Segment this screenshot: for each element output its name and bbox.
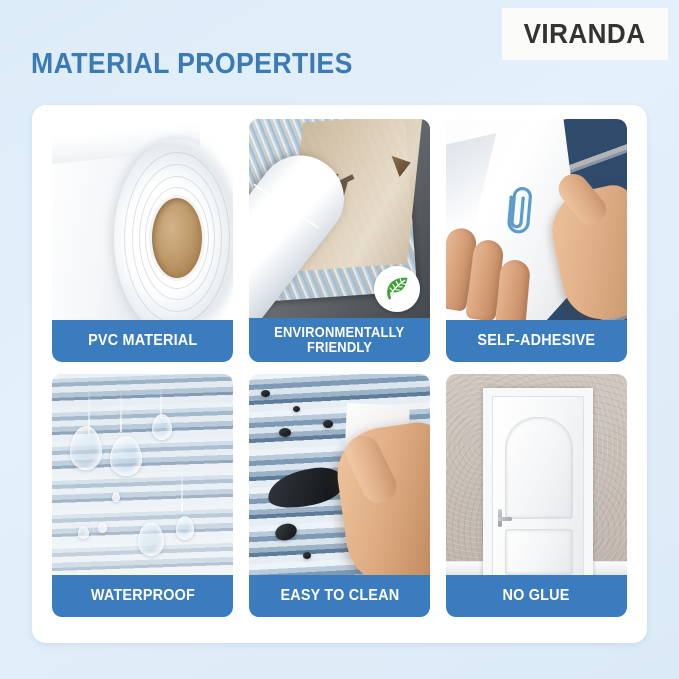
- feature-label-text: ENVIRONMENTALLY FRIENDLY: [270, 325, 410, 356]
- stain-spot: [261, 390, 270, 397]
- features-grid: PVC MATERIAL: [52, 119, 627, 617]
- pvc-roll-core: [152, 198, 202, 278]
- brand-logo-text: VIRANDA: [524, 18, 646, 50]
- stain-spot: [293, 406, 300, 412]
- water-droplet: [98, 522, 107, 533]
- water-droplet: [78, 526, 89, 539]
- feature-label-environmentally-friendly: ENVIRONMENTALLY FRIENDLY: [249, 318, 430, 362]
- feature-label-text: SELF-ADHESIVE: [478, 333, 596, 349]
- feature-tile-self-adhesive[interactable]: SELF-ADHESIVE: [446, 119, 627, 362]
- feature-label-text: WATERPROOF: [90, 588, 194, 604]
- stain-spot: [303, 552, 311, 559]
- feature-label-text: NO GLUE: [503, 588, 570, 604]
- feature-label-text: PVC MATERIAL: [88, 333, 197, 349]
- door-panel-top: [505, 417, 573, 519]
- feature-label-text: EASY TO CLEAN: [280, 588, 399, 604]
- feature-label-line2: FRIENDLY: [307, 340, 372, 355]
- feature-label-line1: ENVIRONMENTALLY: [274, 325, 404, 340]
- feature-label-self-adhesive: SELF-ADHESIVE: [446, 320, 627, 362]
- page-title: MATERIAL PROPERTIES: [31, 48, 353, 81]
- features-card: PVC MATERIAL: [32, 105, 647, 643]
- feature-tile-environmentally-friendly[interactable]: ENVIRONMENTALLY FRIENDLY: [249, 119, 430, 362]
- paperclip-icon: [501, 180, 540, 244]
- feature-tile-easy-to-clean[interactable]: EASY TO CLEAN: [249, 374, 430, 617]
- door-handle-bar: [498, 517, 512, 521]
- infographic-page: VIRANDA MATERIAL PROPERTIES: [0, 0, 679, 679]
- stain-spot: [279, 428, 291, 437]
- brand-logo: VIRANDA: [502, 8, 668, 60]
- stain-smear: [264, 462, 348, 513]
- water-droplet: [176, 516, 194, 540]
- water-droplet: [138, 522, 164, 556]
- feature-label-waterproof: WATERPROOF: [52, 575, 233, 617]
- feature-tile-pvc-material[interactable]: PVC MATERIAL: [52, 119, 233, 362]
- feature-label-pvc-material: PVC MATERIAL: [52, 320, 233, 362]
- droplet-trail: [160, 384, 162, 418]
- stain-spot: [323, 420, 333, 428]
- droplet-trail: [181, 460, 183, 512]
- stain-spot: [273, 521, 299, 543]
- leaf-icon: [374, 266, 420, 312]
- feature-label-no-glue: NO GLUE: [446, 575, 627, 617]
- water-droplet: [112, 492, 120, 502]
- door-panel-bottom: [505, 529, 573, 575]
- droplet-trail: [120, 388, 122, 432]
- door-shape: [492, 396, 584, 578]
- feature-tile-no-glue[interactable]: NO GLUE: [446, 374, 627, 617]
- pvc-roll-shape: [114, 139, 233, 337]
- water-droplet: [152, 414, 172, 440]
- feature-tile-waterproof[interactable]: WATERPROOF: [52, 374, 233, 617]
- feature-label-easy-to-clean: EASY TO CLEAN: [249, 575, 430, 617]
